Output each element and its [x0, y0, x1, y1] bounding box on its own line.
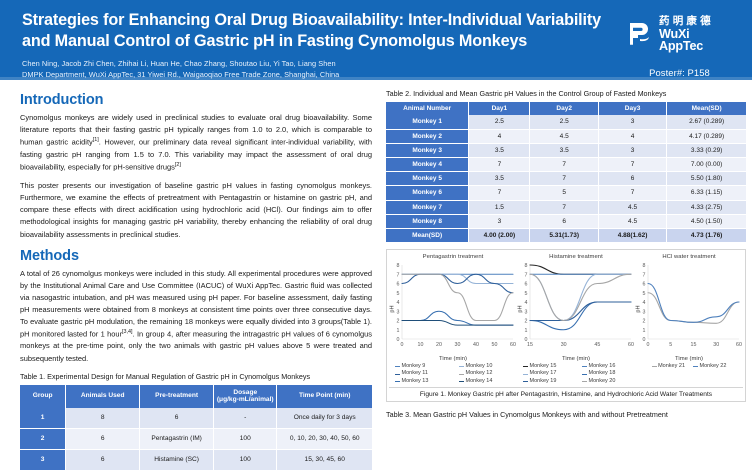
cell-timepoint: Once daily for 3 days	[277, 408, 372, 429]
legend-swatch-icon	[523, 366, 528, 367]
line-chart-histamine: 01234567815304560	[517, 261, 635, 351]
title-block: Strategies for Enhancing Oral Drug Bioav…	[22, 8, 627, 80]
table-row: Monkey 67576.33 (1.15)	[386, 186, 746, 200]
line-chart-pentagastrin: 0123456780102030405060	[389, 261, 517, 351]
cell-ph-value: 3.5	[530, 143, 598, 157]
legend-label: Monkey 19	[530, 378, 557, 385]
plot-area-hcl-water: pH 01234567805153060	[635, 261, 743, 356]
table-control-group-ph: Animal Number Day1 Day2 Day3 Mean(SD) Mo…	[386, 102, 746, 243]
cell-group: 1	[20, 408, 66, 429]
cell-ph-value: 2.5	[530, 115, 598, 129]
cell-ph-value: 5.50 (1.80)	[667, 172, 746, 186]
logo: 药明康德 WuXi AppTec	[627, 16, 732, 53]
legend-swatch-icon	[395, 381, 400, 382]
svg-text:4: 4	[525, 300, 528, 306]
svg-text:1: 1	[643, 328, 646, 334]
svg-text:2: 2	[397, 319, 400, 325]
left-column: Introduction Cynomolgus monkeys are wide…	[10, 86, 372, 470]
th-dosage: Dosage (μg/kg-mL/animal)	[214, 385, 277, 408]
table3-caption: Table 3. Mean Gastric pH Values in Cynom…	[386, 410, 746, 419]
svg-text:2: 2	[643, 319, 646, 325]
cell-ph-value: 7	[598, 157, 666, 171]
cell-animal-number: Monkey 3	[386, 143, 469, 157]
legend-item: Monkey 19	[517, 378, 576, 385]
svg-text:5: 5	[397, 291, 400, 297]
cell-ph-value: 7	[598, 186, 666, 200]
cell-ph-value: 4	[598, 129, 666, 143]
cell-animal-number: Monkey 8	[386, 214, 469, 228]
legend-label: Monkey 9	[402, 363, 426, 370]
legend-item: Monkey 17	[517, 370, 576, 377]
svg-text:7: 7	[397, 272, 400, 278]
cell-dosage: 100	[214, 428, 277, 449]
cell-summary-value: 5.31(1.73)	[530, 228, 598, 242]
legend-item: Monkey 14	[453, 378, 517, 385]
table-row: Monkey 47777.00 (0.00)	[386, 157, 746, 171]
legend-label: Monkey 18	[589, 370, 616, 377]
cell-ph-value: 3	[598, 115, 666, 129]
legend-hcl-water: Monkey 21Monkey 22	[635, 363, 743, 370]
cell-ph-value: 3.33 (0.29)	[667, 143, 746, 157]
legend-histamine: Monkey 15Monkey 16Monkey 17Monkey 18Monk…	[517, 363, 635, 385]
cell-ph-value: 6.33 (1.15)	[667, 186, 746, 200]
svg-text:20: 20	[436, 342, 442, 348]
section-heading-methods: Methods	[20, 248, 372, 264]
introduction-paragraph-2: This poster presents our investigation o…	[20, 180, 372, 240]
svg-text:45: 45	[594, 342, 600, 348]
svg-text:15: 15	[527, 342, 533, 348]
cell-ph-value: 7.00 (0.00)	[667, 157, 746, 171]
cell-animals: 6	[66, 449, 140, 470]
table1-caption: Table 1. Experimental Design for Manual …	[20, 372, 372, 381]
logo-english-name: WuXi AppTec	[659, 28, 732, 53]
cell-ph-value: 4.17 (0.289)	[667, 129, 746, 143]
y-axis-label-hcl-water: pH	[636, 305, 642, 312]
legend-swatch-icon	[395, 366, 400, 367]
plot-area-histamine: pH 01234567815304560	[517, 261, 635, 356]
cell-animal-number: Monkey 1	[386, 115, 469, 129]
th-dosage-line1: Dosage	[233, 389, 257, 396]
svg-text:3: 3	[643, 309, 646, 315]
svg-text:8: 8	[643, 263, 646, 269]
th-day3: Day3	[598, 102, 666, 115]
poster-root: Strategies for Enhancing Oral Drug Bioav…	[0, 0, 752, 470]
svg-text:30: 30	[561, 342, 567, 348]
figure-1-container: Pentagastrin treatment pH 01234567801020…	[386, 249, 746, 402]
th-time-point: Time Point (min)	[277, 385, 372, 408]
svg-text:5: 5	[669, 342, 672, 348]
legend-swatch-icon	[652, 366, 657, 367]
legend-label: Monkey 12	[466, 370, 493, 377]
th-dosage-line2: (μg/kg-mL/animal)	[217, 396, 274, 403]
cell-ph-value: 7	[530, 172, 598, 186]
svg-text:0: 0	[397, 337, 400, 343]
legend-item: Monkey 15	[517, 363, 576, 370]
svg-text:30: 30	[455, 342, 461, 348]
legend-item: Monkey 21	[648, 363, 689, 370]
legend-label: Monkey 17	[530, 370, 557, 377]
cell-animals: 6	[66, 428, 140, 449]
cell-ph-value: 4.33 (2.75)	[667, 200, 746, 214]
wuxi-apptec-logo-icon	[627, 20, 655, 48]
cell-ph-value: 2.67 (0.289)	[667, 115, 746, 129]
cell-animal-number: Monkey 7	[386, 200, 469, 214]
cell-ph-value: 7	[530, 200, 598, 214]
line-chart-hcl-water: 01234567805153060	[635, 261, 743, 351]
cell-ph-value: 1.5	[469, 200, 530, 214]
cell-ph-value: 3.5	[469, 143, 530, 157]
cell-pretreatment: Pentagastrin (IM)	[140, 428, 214, 449]
svg-text:30: 30	[713, 342, 719, 348]
svg-text:60: 60	[628, 342, 634, 348]
svg-text:7: 7	[525, 272, 528, 278]
legend-label: Monkey 21	[658, 363, 685, 370]
svg-text:0: 0	[647, 342, 650, 348]
svg-text:0: 0	[401, 342, 404, 348]
cell-ph-value: 2.5	[469, 115, 530, 129]
y-axis-label-histamine: pH	[518, 305, 524, 312]
table-row: Monkey 33.53.533.33 (0.29)	[386, 143, 746, 157]
x-axis-label-histamine: Time (min)	[517, 356, 635, 362]
th-day2: Day2	[530, 102, 598, 115]
cell-ph-value: 6	[598, 172, 666, 186]
cell-animal-number: Monkey 4	[386, 157, 469, 171]
cell-ph-value: 4.5	[530, 129, 598, 143]
legend-swatch-icon	[459, 366, 464, 367]
legend-item: Monkey 16	[576, 363, 635, 370]
table-row: 2 6 Pentagastrin (IM) 100 0, 10, 20, 30,…	[20, 428, 372, 449]
legend-item: Monkey 10	[453, 363, 517, 370]
right-column: Table 2. Individual and Mean Gastric pH …	[386, 86, 746, 470]
y-axis-label-pentagastrin: pH	[390, 305, 396, 312]
legend-swatch-icon	[582, 381, 587, 382]
th-mean-sd: Mean(SD)	[667, 102, 746, 115]
legend-label: Monkey 11	[402, 370, 429, 377]
table-row: 3 6 Histamine (SC) 100 15, 30, 45, 60	[20, 449, 372, 470]
th-pre-treatment: Pre-treatment	[140, 385, 214, 408]
svg-text:40: 40	[473, 342, 479, 348]
cell-dosage: 100	[214, 449, 277, 470]
svg-text:8: 8	[525, 263, 528, 269]
svg-text:5: 5	[525, 291, 528, 297]
svg-text:6: 6	[397, 282, 400, 288]
legend-item: Monkey 13	[389, 378, 453, 385]
svg-text:15: 15	[691, 342, 697, 348]
svg-text:5: 5	[643, 291, 646, 297]
cell-group: 2	[20, 428, 66, 449]
legend-label: Monkey 22	[700, 363, 727, 370]
cell-ph-value: 7	[469, 186, 530, 200]
chart-panel-pentagastrin: Pentagastrin treatment pH 01234567801020…	[389, 254, 517, 385]
svg-text:4: 4	[643, 300, 646, 306]
cell-ph-value: 3	[598, 143, 666, 157]
table1-header-row: Group Animals Used Pre-treatment Dosage …	[20, 385, 372, 408]
cell-ph-value: 5	[530, 186, 598, 200]
th-day1: Day1	[469, 102, 530, 115]
page-title: Strategies for Enhancing Oral Drug Bioav…	[22, 10, 627, 53]
legend-item: Monkey 18	[576, 370, 635, 377]
chart-title-pentagastrin: Pentagastrin treatment	[389, 254, 517, 260]
legend-pentagastrin: Monkey 9Monkey 10Monkey 11Monkey 12Monke…	[389, 363, 517, 385]
cell-animal-number: Monkey 6	[386, 186, 469, 200]
logo-text: 药明康德 WuXi AppTec	[659, 16, 732, 53]
legend-swatch-icon	[459, 374, 464, 375]
intro-ref-2: [2]	[175, 162, 181, 168]
methods-ref: [3,4]	[122, 329, 133, 335]
poster-body: Introduction Cynomolgus monkeys are wide…	[0, 80, 752, 470]
methods-paragraph-1: A total of 26 cynomolgus monkeys were in…	[20, 268, 372, 365]
svg-text:2: 2	[525, 319, 528, 325]
chart-title-histamine: Histamine treatment	[517, 254, 635, 260]
cell-timepoint: 0, 10, 20, 30, 40, 50, 60	[277, 428, 372, 449]
table2-header-row: Animal Number Day1 Day2 Day3 Mean(SD)	[386, 102, 746, 115]
x-axis-label-pentagastrin: Time (min)	[389, 356, 517, 362]
affiliation-line: DMPK Department, WuXi AppTec, 31 Yiwei R…	[22, 69, 627, 80]
cell-ph-value: 4	[469, 129, 530, 143]
legend-label: Monkey 16	[589, 363, 616, 370]
legend-item: Monkey 22	[689, 363, 730, 370]
svg-text:8: 8	[397, 263, 400, 269]
poster-number: Poster#: P158	[649, 67, 710, 78]
table2-body: Monkey 12.52.532.67 (0.289)Monkey 244.54…	[386, 115, 746, 242]
logo-chinese-name: 药明康德	[659, 16, 732, 27]
cell-ph-value: 4.50 (1.50)	[667, 214, 746, 228]
cell-group: 3	[20, 449, 66, 470]
cell-summary-value: 4.88(1.62)	[598, 228, 666, 242]
svg-text:60: 60	[510, 342, 516, 348]
th-animals-used: Animals Used	[66, 385, 140, 408]
svg-text:50: 50	[492, 342, 498, 348]
cell-timepoint: 15, 30, 45, 60	[277, 449, 372, 470]
cell-ph-value: 4.5	[598, 200, 666, 214]
legend-swatch-icon	[395, 374, 400, 375]
legend-label: Monkey 20	[589, 378, 616, 385]
chart-panel-histamine: Histamine treatment pH 01234567815304560…	[517, 254, 635, 385]
cell-pretreatment: 6	[140, 408, 214, 429]
svg-text:1: 1	[397, 328, 400, 334]
table-row: 1 8 6 - Once daily for 3 days	[20, 408, 372, 429]
cell-ph-value: 6	[530, 214, 598, 228]
section-heading-introduction: Introduction	[20, 92, 372, 108]
svg-text:4: 4	[397, 300, 400, 306]
chart-title-hcl-water: HCl water treatment	[635, 254, 743, 260]
cell-summary-label: Mean(SD)	[386, 228, 469, 242]
cell-ph-value: 7	[530, 157, 598, 171]
legend-swatch-icon	[523, 374, 528, 375]
poster-header: Strategies for Enhancing Oral Drug Bioav…	[0, 0, 752, 80]
legend-item: Monkey 20	[576, 378, 635, 385]
legend-item: Monkey 11	[389, 370, 453, 377]
x-axis-label-hcl-water: Time (min)	[635, 356, 743, 362]
svg-text:0: 0	[643, 337, 646, 343]
legend-swatch-icon	[693, 366, 698, 367]
methods-text-a: A total of 26 cynomolgus monkeys were in…	[20, 269, 372, 339]
svg-text:3: 3	[397, 309, 400, 315]
svg-text:3: 3	[525, 309, 528, 315]
author-list: Chen Ning, Jacob Zhi Chen, Zhihai Li, Hu…	[22, 58, 627, 69]
legend-label: Monkey 13	[402, 378, 429, 385]
cell-dosage: -	[214, 408, 277, 429]
cell-ph-value: 4.5	[598, 214, 666, 228]
svg-text:6: 6	[643, 282, 646, 288]
th-animal-number: Animal Number	[386, 102, 469, 115]
cell-ph-value: 3.5	[469, 172, 530, 186]
svg-text:60: 60	[736, 342, 742, 348]
cell-ph-value: 3	[469, 214, 530, 228]
table-summary-row: Mean(SD)4.00 (2.00)5.31(1.73)4.88(1.62)4…	[386, 228, 746, 242]
cell-summary-value: 4.73 (1.76)	[667, 228, 746, 242]
legend-item: Monkey 12	[453, 370, 517, 377]
introduction-paragraph-1: Cynomolgus monkeys are widely used in pr…	[20, 112, 372, 173]
svg-text:10: 10	[418, 342, 424, 348]
chart-panel-hcl-water: HCl water treatment pH 01234567805153060…	[635, 254, 743, 385]
legend-label: Monkey 14	[466, 378, 493, 385]
cell-pretreatment: Histamine (SC)	[140, 449, 214, 470]
cell-animal-number: Monkey 2	[386, 129, 469, 143]
legend-label: Monkey 15	[530, 363, 557, 370]
legend-swatch-icon	[523, 381, 528, 382]
legend-label: Monkey 10	[466, 363, 493, 370]
table-row: Monkey 53.5765.50 (1.80)	[386, 172, 746, 186]
brand-block: 药明康德 WuXi AppTec Poster#: P158	[627, 8, 740, 78]
th-group: Group	[20, 385, 66, 408]
legend-swatch-icon	[459, 381, 464, 382]
legend-swatch-icon	[582, 366, 587, 367]
figure-panels: Pentagastrin treatment pH 01234567801020…	[389, 254, 743, 385]
table-row: Monkey 8364.54.50 (1.50)	[386, 214, 746, 228]
plot-area-pentagastrin: pH 0123456780102030405060	[389, 261, 517, 356]
svg-text:7: 7	[643, 272, 646, 278]
cell-animals: 8	[66, 408, 140, 429]
figure-1-caption: Figure 1. Monkey Gastric pH after Pentag…	[389, 388, 743, 399]
table-row: Monkey 71.574.54.33 (2.75)	[386, 200, 746, 214]
svg-text:6: 6	[525, 282, 528, 288]
cell-ph-value: 7	[469, 157, 530, 171]
cell-summary-value: 4.00 (2.00)	[469, 228, 530, 242]
table-row: Monkey 12.52.532.67 (0.289)	[386, 115, 746, 129]
table-experimental-design: Group Animals Used Pre-treatment Dosage …	[20, 385, 372, 470]
table-row: Monkey 244.544.17 (0.289)	[386, 129, 746, 143]
cell-animal-number: Monkey 5	[386, 172, 469, 186]
legend-swatch-icon	[582, 374, 587, 375]
svg-text:1: 1	[525, 328, 528, 334]
table2-caption: Table 2. Individual and Mean Gastric pH …	[386, 89, 746, 98]
legend-item: Monkey 9	[389, 363, 453, 370]
